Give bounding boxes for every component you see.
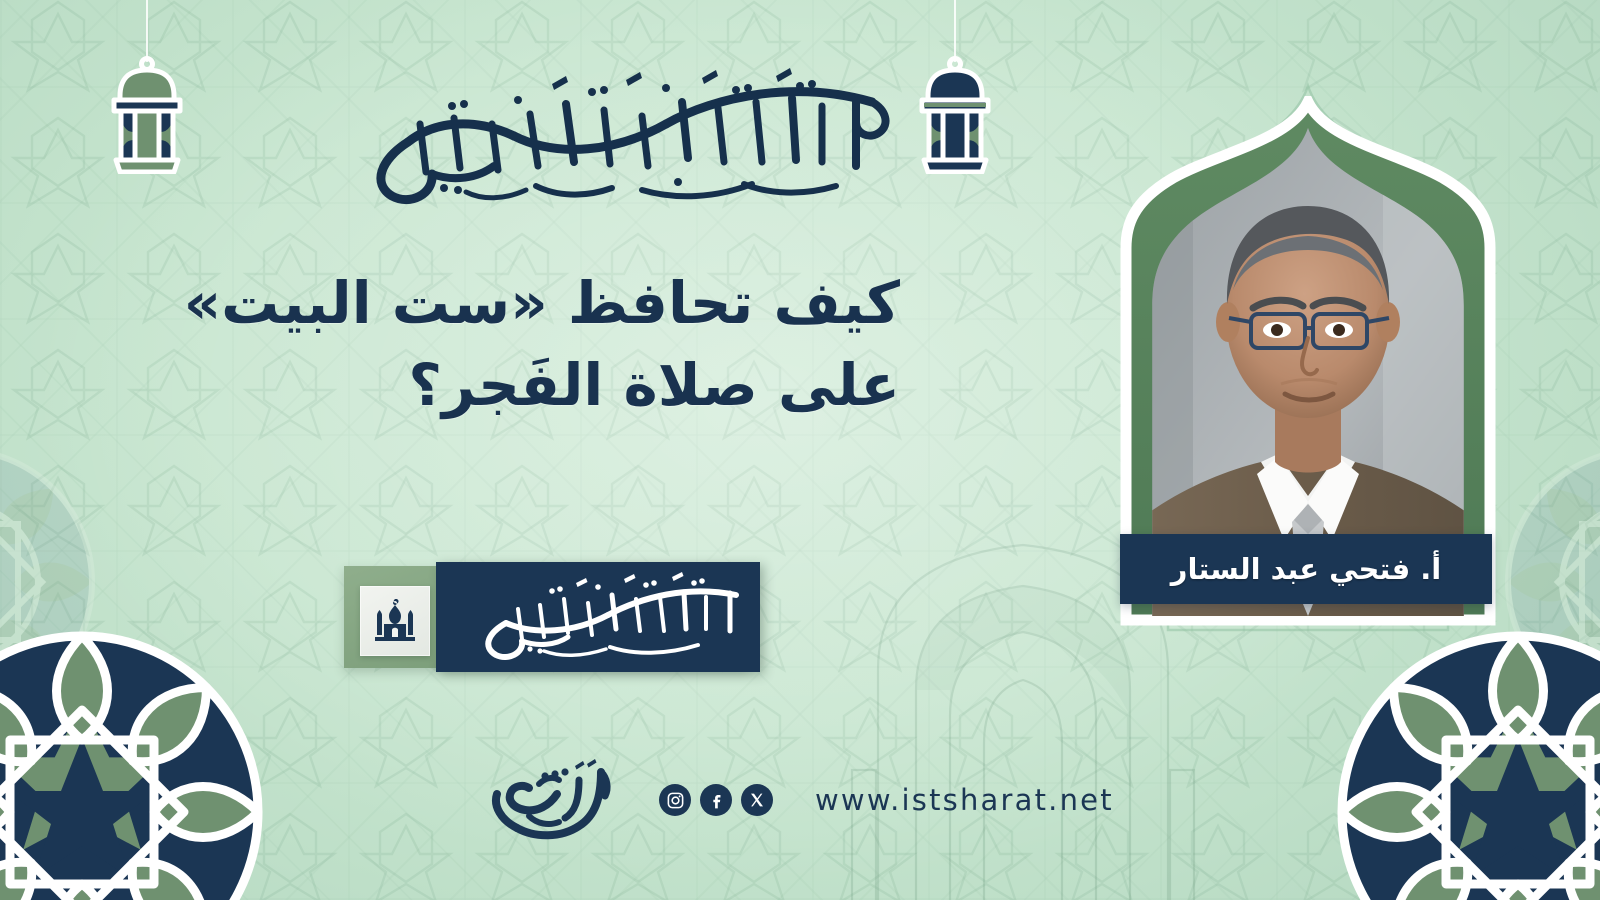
facebook-icon[interactable] [700,784,732,816]
headline: كيف تحافظ «ست البيت» على صلاة الفَجر؟ [240,262,900,427]
lantern-right [912,0,998,165]
headline-line-1: كيف تحافظ «ست البيت» [240,262,900,344]
mujtama-logo: المجتمع [483,754,615,846]
lantern-cord [146,0,148,62]
poster-canvas: بوابة الاستشارات الإلكترونية بوابة الاست… [0,0,1600,900]
header-calligraphy: بوابة الاستشارات الإلكترونية بوابة الاست… [196,62,896,222]
website-url[interactable]: www.istsharat.net [815,783,1114,817]
speaker-nameplate: أ. فتحي عبد الستار [1120,534,1492,604]
banner-calligraphy-plate: استشارات إيمانية استشارات إيمانية [436,562,760,672]
section-banner: استشارات إيمانية استشارات إيمانية [344,562,784,674]
speaker-name: أ. فتحي عبد الستار [1171,552,1441,586]
social-links [659,784,773,816]
x-twitter-icon[interactable] [741,784,773,816]
lantern-left [104,0,190,165]
footer: المجتمع www.istsharat.net [483,752,1103,848]
lantern-cord [954,0,956,62]
mosque-icon [372,599,418,643]
banner-mosque-tile [360,586,430,656]
instagram-icon[interactable] [659,784,691,816]
headline-line-2: على صلاة الفَجر؟ [240,344,900,426]
